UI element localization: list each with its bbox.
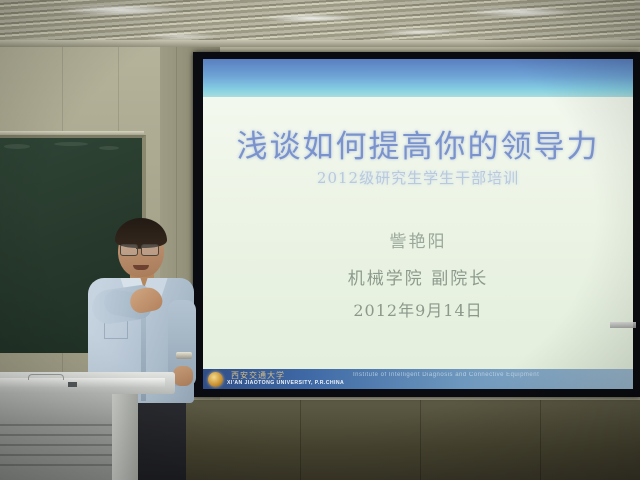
lectern-latch[interactable] bbox=[68, 382, 77, 387]
university-seal-icon bbox=[208, 372, 223, 387]
slide-title: 浅谈如何提高你的领导力 bbox=[203, 121, 633, 166]
slide-presenter-affiliation: 机械学院 副院长 bbox=[203, 264, 633, 289]
slide-date: 2012年9月14日 bbox=[203, 297, 633, 321]
presenter-mouth bbox=[133, 265, 149, 270]
lectern-vent bbox=[0, 464, 118, 466]
glasses-left-lens-icon bbox=[120, 244, 138, 256]
floor-seam bbox=[300, 400, 301, 480]
lectern-handle[interactable] bbox=[28, 374, 64, 380]
institute-name-en: Institute of Intelligent Diagnosis and C… bbox=[353, 372, 539, 378]
floor-seam bbox=[540, 400, 541, 480]
slide-presenter-name: 訾艳阳 bbox=[203, 227, 633, 252]
lecture-hall-photo: 浅谈如何提高你的领导力 2012级研究生学生干部培训 訾艳阳 机械学院 副院长 … bbox=[0, 0, 640, 480]
lectern-vent bbox=[0, 444, 118, 446]
chalk-smudge bbox=[54, 142, 88, 146]
glasses-bridge bbox=[136, 248, 142, 249]
presenter-right-hand bbox=[173, 366, 193, 386]
lectern-vent bbox=[0, 424, 118, 426]
floor-seam bbox=[420, 400, 421, 480]
lectern-lid bbox=[0, 378, 165, 387]
lectern-vent bbox=[0, 434, 118, 436]
chalk-smudge bbox=[99, 146, 119, 150]
university-name-en: XI'AN JIAOTONG UNIVERSITY, P.R.CHINA bbox=[227, 380, 344, 386]
lectern-vent bbox=[0, 454, 118, 456]
slideshow-nav-control[interactable] bbox=[610, 322, 636, 328]
slide-footer-bar: 西安交通大学 XI'AN JIAOTONG UNIVERSITY, P.R.CH… bbox=[203, 369, 633, 389]
presentation-slide[interactable]: 浅谈如何提高你的领导力 2012级研究生学生干部培训 訾艳阳 机械学院 副院长 … bbox=[203, 59, 633, 389]
lectern-body bbox=[0, 392, 125, 480]
chalk-smudge bbox=[4, 144, 30, 149]
wristwatch bbox=[176, 352, 192, 359]
slide-header-band bbox=[203, 59, 633, 97]
slide-subtitle: 2012级研究生学生干部培训 bbox=[203, 167, 633, 188]
glasses-right-lens-icon bbox=[141, 244, 159, 256]
